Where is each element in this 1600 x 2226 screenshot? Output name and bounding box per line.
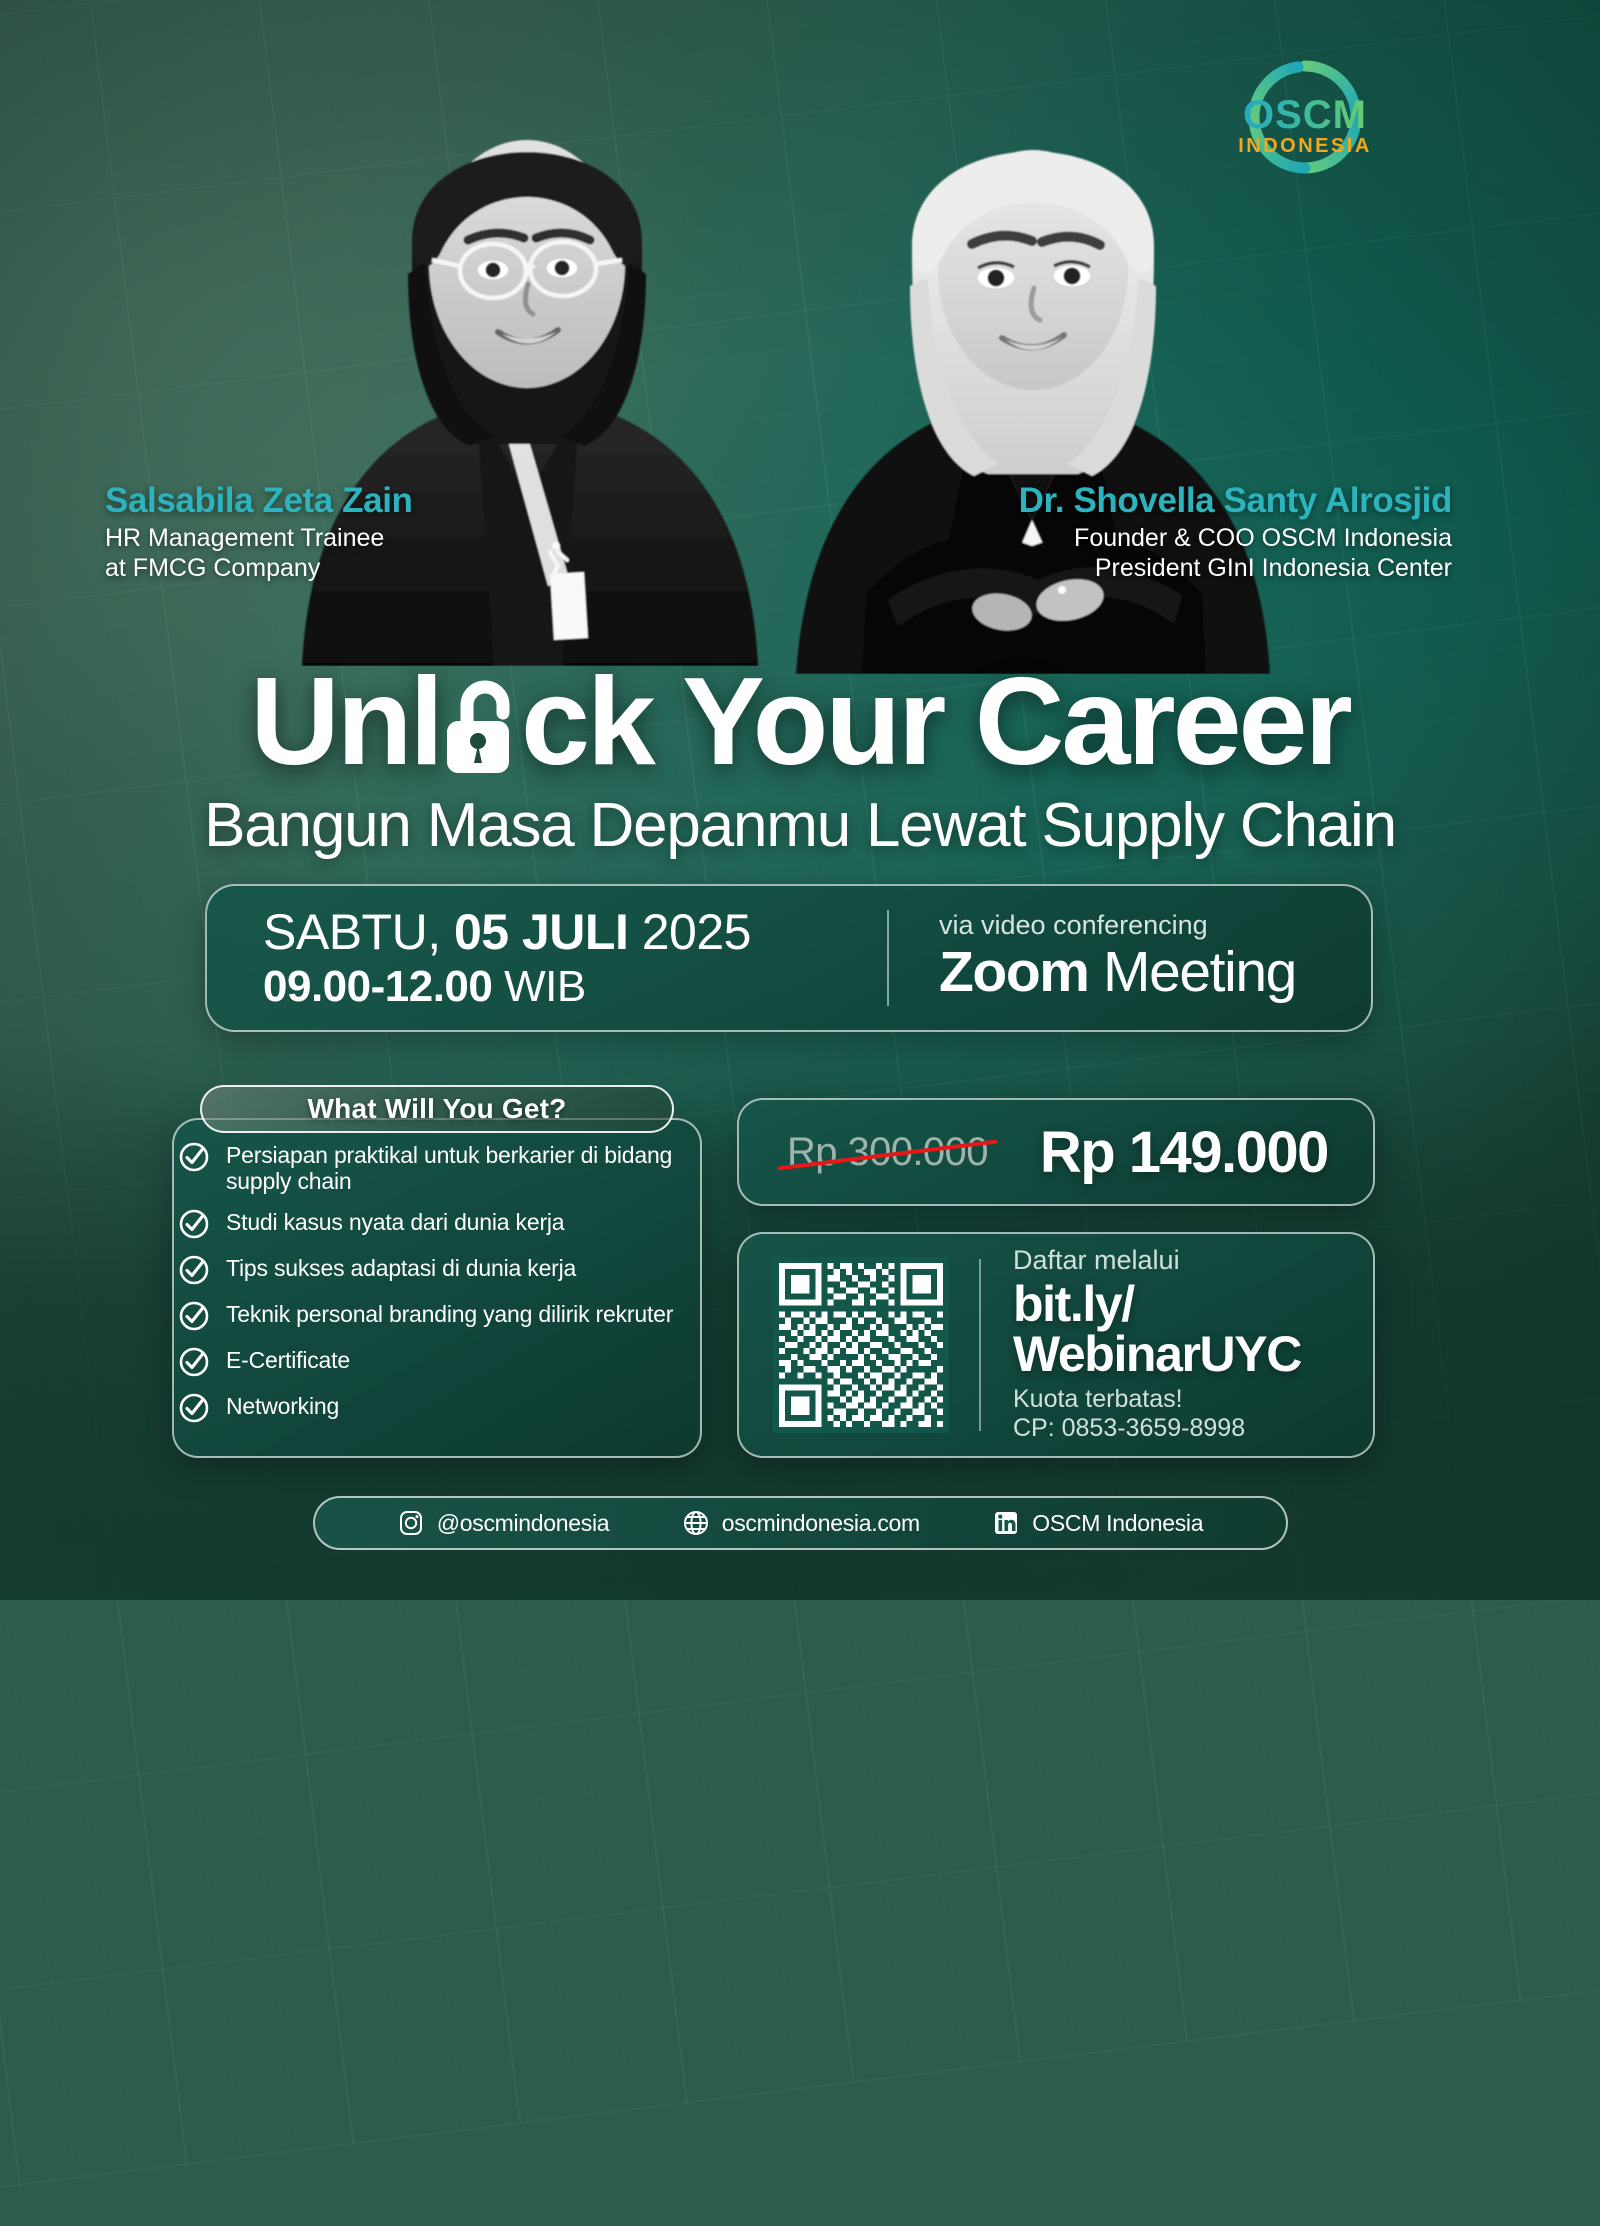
headline-main: Unl ck Your Career (0, 662, 1600, 784)
benefit-item: Persiapan praktikal untuk berkarier di b… (178, 1140, 708, 1194)
social-label: OSCM Indonesia (1032, 1510, 1203, 1537)
logo-sub-text: INDONESIA (1238, 135, 1372, 157)
event-platform-block: via video conferencing Zoom Meeting (889, 911, 1296, 1006)
social-footer-bar: @oscmindonesia oscmindonesia.com OSCM In… (313, 1496, 1288, 1550)
benefit-label: Teknik personal branding yang dilirik re… (226, 1299, 673, 1327)
benefits-title: What Will You Get? (308, 1093, 567, 1125)
registration-card: Daftar melalui bit.ly/ WebinarUYC Kuota … (737, 1232, 1375, 1458)
register-link-line2: WebinarUYC (1013, 1329, 1301, 1379)
registration-qr-code[interactable] (773, 1257, 949, 1433)
speaker-label-right: Dr. Shovella Santy Alrosjid Founder & CO… (1019, 482, 1452, 583)
event-date-bold: 05 JULI (454, 904, 628, 960)
headline-subtitle: Bangun Masa Depanmu Lewat Supply Chain (0, 790, 1600, 861)
quota-note: Kuota terbatas! (1013, 1385, 1301, 1415)
register-note: Kuota terbatas! CP: 0853-3659-8998 (1013, 1385, 1301, 1444)
benefit-label: Tips sukses adaptasi di dunia kerja (226, 1253, 576, 1281)
register-link[interactable]: bit.ly/ WebinarUYC (1013, 1279, 1301, 1379)
social-label: @oscmindonesia (437, 1510, 610, 1537)
platform-name: Zoom Meeting (939, 941, 1296, 1005)
oscm-indonesia-logo: OSCM INDONESIA (1210, 52, 1400, 182)
speaker-name: Salsabila Zeta Zain (105, 482, 413, 519)
linkedin-icon (993, 1510, 1019, 1536)
event-schedule-card: SABTU, 05 JULI 2025 09.00-12.00 WIB via … (205, 884, 1373, 1032)
check-circle-icon (178, 1208, 210, 1240)
globe-icon (683, 1510, 709, 1536)
price-card: Rp 300.000 Rp 149.000 (737, 1098, 1375, 1206)
benefit-label: Persiapan praktikal untuk berkarier di b… (226, 1140, 708, 1194)
event-year: 2025 (628, 904, 751, 960)
register-link-line1: bit.ly/ (1013, 1279, 1301, 1329)
event-timezone: WIB (492, 962, 585, 1011)
social-item-instagram[interactable]: @oscmindonesia (398, 1510, 610, 1537)
social-item-linkedin[interactable]: OSCM Indonesia (993, 1510, 1203, 1537)
event-time: 09.00-12.00 (263, 962, 492, 1011)
original-price: Rp 300.000 (787, 1130, 988, 1174)
platform-suffix: Meeting (1089, 940, 1296, 1004)
platform-brand: Zoom (939, 940, 1089, 1004)
check-circle-icon (178, 1346, 210, 1378)
benefit-label: Studi kasus nyata dari dunia kerja (226, 1207, 564, 1235)
benefit-label: Networking (226, 1391, 339, 1419)
benefit-item: Tips sukses adaptasi di dunia kerja (178, 1253, 708, 1286)
registration-text-block: Daftar melalui bit.ly/ WebinarUYC Kuota … (981, 1246, 1301, 1444)
check-circle-icon (178, 1300, 210, 1332)
register-kicker: Daftar melalui (1013, 1246, 1301, 1276)
headline-part-2: ck Your Career (521, 662, 1350, 784)
event-date-block: SABTU, 05 JULI 2025 09.00-12.00 WIB (207, 904, 887, 1013)
social-label: oscmindonesia.com (722, 1510, 920, 1537)
open-padlock-icon (437, 677, 525, 777)
speaker-role-line1: HR Management Trainee (105, 523, 413, 553)
platform-kicker: via video conferencing (939, 911, 1296, 941)
event-date-line: SABTU, 05 JULI 2025 (263, 904, 887, 960)
social-item-website[interactable]: oscmindonesia.com (683, 1510, 920, 1537)
original-price-wrapper: Rp 300.000 (787, 1130, 988, 1175)
check-circle-icon (178, 1392, 210, 1424)
instagram-icon (398, 1510, 424, 1536)
headline-part-1: Unl (250, 662, 441, 784)
benefit-item: E-Certificate (178, 1345, 708, 1378)
benefit-item: Networking (178, 1391, 708, 1424)
benefit-label: E-Certificate (226, 1345, 350, 1373)
event-day: SABTU, (263, 904, 454, 960)
check-circle-icon (178, 1141, 210, 1173)
speaker-role-line2: President GInI Indonesia Center (1019, 553, 1452, 583)
event-time-line: 09.00-12.00 WIB (263, 962, 887, 1013)
benefit-item: Studi kasus nyata dari dunia kerja (178, 1207, 708, 1240)
poster-headline: Unl ck Your Career Bangun Masa Depanmu L… (0, 662, 1600, 861)
speaker-role-line2: at FMCG Company (105, 553, 413, 583)
discounted-price: Rp 149.000 (1040, 1119, 1328, 1186)
speaker-role-line1: Founder & COO OSCM Indonesia (1019, 523, 1452, 553)
check-circle-icon (178, 1254, 210, 1286)
benefits-header-pill: What Will You Get? (200, 1085, 674, 1133)
speaker-label-left: Salsabila Zeta Zain HR Management Traine… (105, 482, 413, 583)
logo-main-text: OSCM (1243, 93, 1367, 137)
benefit-item: Teknik personal branding yang dilirik re… (178, 1299, 708, 1332)
benefits-list: Persiapan praktikal untuk berkarier di b… (178, 1140, 708, 1437)
contact-person: CP: 0853-3659-8998 (1013, 1414, 1301, 1444)
speaker-name: Dr. Shovella Santy Alrosjid (1019, 482, 1452, 519)
